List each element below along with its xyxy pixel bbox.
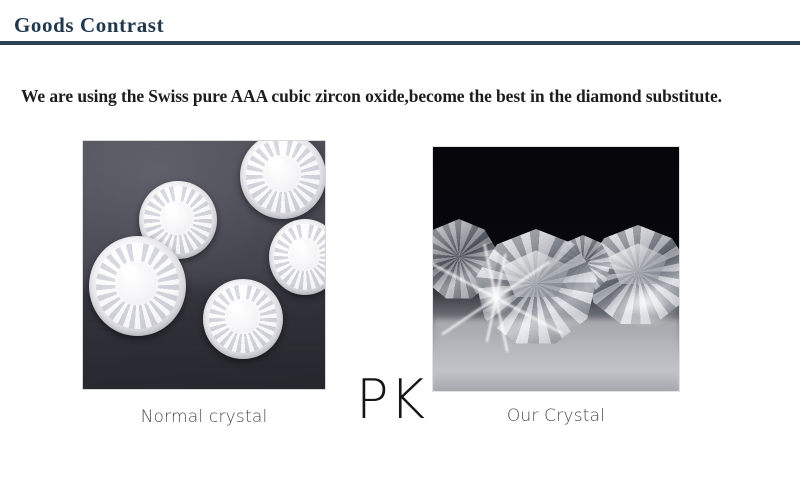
our-crystal-caption: Our Crystal [432, 406, 680, 426]
header-divider [0, 41, 800, 45]
gem-sparkle [229, 301, 243, 311]
page-header: Goods Contrast [0, 0, 800, 46]
light-glow [611, 279, 679, 327]
gemstone-icon [203, 279, 283, 359]
normal-crystal-image-inner [83, 141, 325, 389]
our-crystal-image-inner [433, 147, 679, 391]
intro-description: We are using the Swiss pure AAA cubic zi… [21, 86, 781, 107]
versus-label: PK [356, 373, 426, 427]
page-title: Goods Contrast [14, 13, 164, 38]
gemstone-icon [89, 236, 186, 336]
star-flare-icon [495, 297, 497, 299]
gemstone-icon [240, 141, 325, 219]
normal-crystal-caption: Normal crystal [82, 407, 326, 427]
comparison-panel-normal: Normal crystal [82, 140, 326, 427]
gem-sparkle [165, 203, 178, 213]
comparison-panel-ours: Our Crystal [432, 140, 680, 426]
our-crystal-image [432, 146, 680, 392]
gem-sparkle [293, 240, 305, 250]
normal-crystal-image [82, 140, 326, 390]
comparison-section: Normal crystal PK [0, 140, 800, 440]
